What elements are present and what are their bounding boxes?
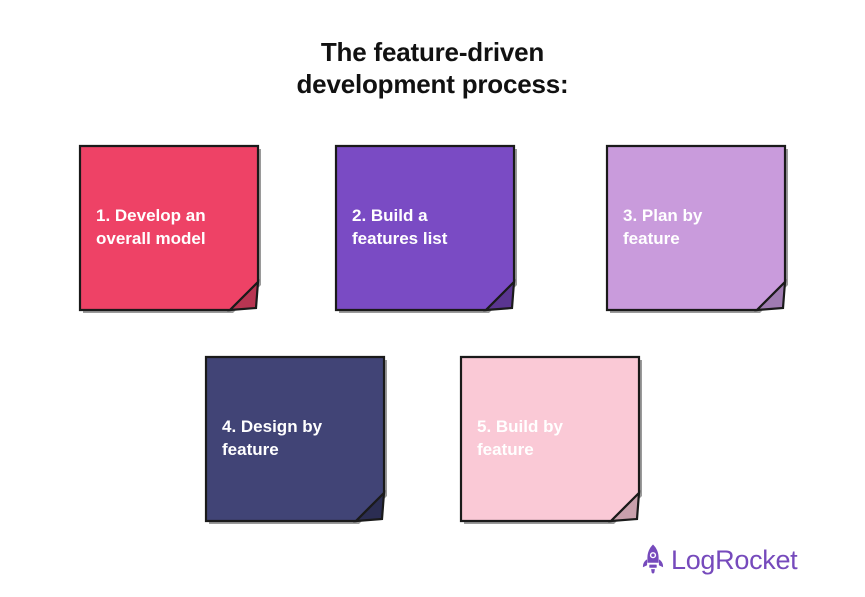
logrocket-logo: LogRocket [638, 538, 798, 582]
process-step-label: 3. Plan by feature [623, 204, 773, 250]
rocket-icon [638, 543, 668, 577]
process-step-card[interactable]: 3. Plan by feature [607, 146, 785, 310]
diagram-canvas: The feature-driven development process: … [0, 0, 865, 597]
page-title-line-1: The feature-driven [0, 36, 865, 68]
logrocket-wordmark: LogRocket [671, 543, 797, 577]
process-step-label: 5. Build by feature [477, 415, 627, 461]
process-step-card[interactable]: 4. Design by feature [206, 357, 384, 521]
page-title-line-2: development process: [0, 68, 865, 100]
process-step-label: 1. Develop an overall model [96, 204, 246, 250]
process-step-card[interactable]: 1. Develop an overall model [80, 146, 258, 310]
process-step-card[interactable]: 2. Build a features list [336, 146, 514, 310]
process-step-label: 4. Design by feature [222, 415, 372, 461]
page-title: The feature-driven development process: [0, 36, 865, 100]
process-step-label: 2. Build a features list [352, 204, 502, 250]
process-step-card[interactable]: 5. Build by feature [461, 357, 639, 521]
